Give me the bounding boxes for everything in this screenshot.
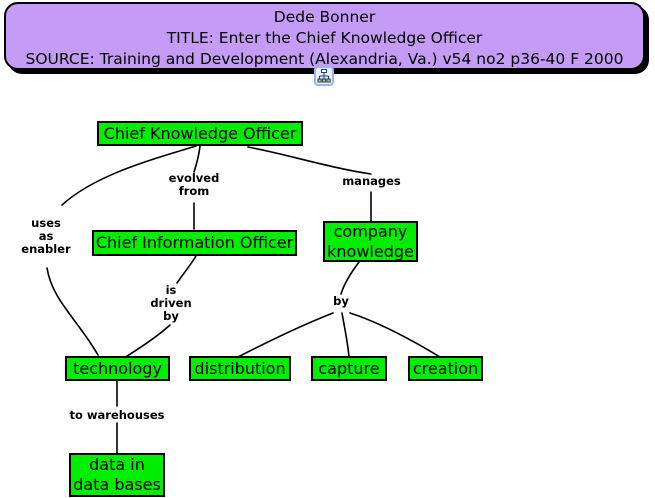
edge-uses-as-enabler-lower [47,268,98,355]
node-creation[interactable]: creation [408,356,483,381]
node-company-knowledge[interactable]: company knowledge [323,221,418,262]
link-label-to-warehouses: to warehouses [57,409,177,422]
concept-map: Chief Knowledge Officer Chief Informatio… [0,0,655,498]
edge-is-driven-by-upper [177,256,196,283]
edge-by-distribution [238,313,333,357]
node-capture[interactable]: capture [311,356,387,381]
edge-evolved-from-upper [194,146,200,172]
node-chief-knowledge-officer[interactable]: Chief Knowledge Officer [97,121,303,146]
node-distribution[interactable]: distribution [189,356,291,381]
edge-by-upper [341,262,359,294]
link-label-by: by [316,295,366,308]
edge-manages-upper [248,147,371,174]
link-label-uses-as-enabler: uses as enabler [8,217,84,256]
edge-by-capture [342,313,349,357]
node-chief-information-officer[interactable]: Chief Information Officer [92,230,297,256]
link-label-is-driven-by: is driven by [140,284,202,323]
link-label-evolved-from: evolved from [154,172,234,198]
edge-is-driven-by-lower [124,325,170,358]
node-data-in-data-bases[interactable]: data in data bases [69,453,165,497]
edge-by-creation [350,313,440,357]
node-technology[interactable]: technology [65,356,170,381]
link-label-manages: manages [334,175,409,188]
